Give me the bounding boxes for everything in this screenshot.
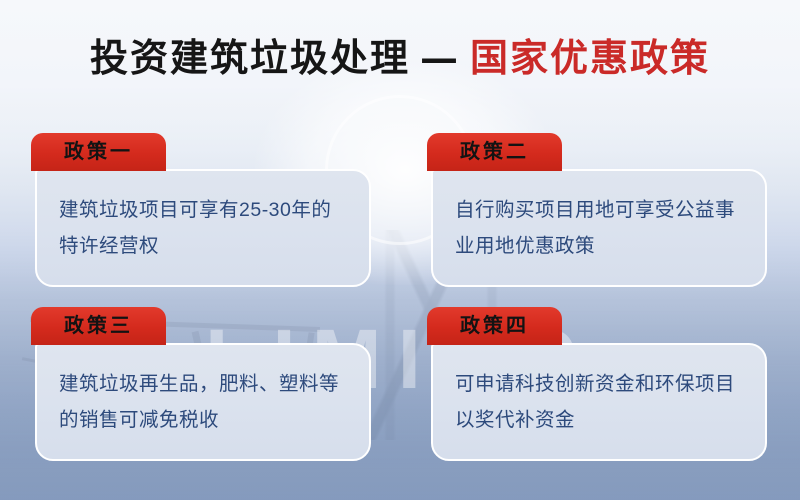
policy-badge-label: 政策四: [460, 315, 529, 335]
policy-card-body-1: 建筑垃圾项目可享有25-30年的特许经营权: [35, 169, 371, 287]
policy-card-text: 建筑垃圾项目可享有25-30年的特许经营权: [59, 192, 347, 264]
policy-card-body-4: 可申请科技创新资金和环保项目以奖代补资金: [431, 343, 767, 461]
policy-badge-label: 政策二: [460, 141, 529, 161]
policy-badge-3: 政策三: [31, 307, 166, 345]
policy-badge-label: 政策一: [64, 141, 133, 161]
policy-badge-2: 政策二: [427, 133, 562, 171]
policy-card-body-2: 自行购买项目用地可享受公益事业用地优惠政策: [431, 169, 767, 287]
policy-card-1[interactable]: 政策一 建筑垃圾项目可享有25-30年的特许经营权: [35, 133, 371, 287]
policy-badge-1: 政策一: [31, 133, 166, 171]
page-title: 投资建筑垃圾处理—国家优惠政策: [0, 34, 800, 82]
page-title-dash: —: [410, 35, 470, 80]
policy-card-text: 自行购买项目用地可享受公益事业用地优惠政策: [455, 192, 743, 264]
policy-card-4[interactable]: 政策四 可申请科技创新资金和环保项目以奖代补资金: [431, 307, 767, 461]
policy-badge-label: 政策三: [64, 315, 133, 335]
policy-card-text: 建筑垃圾再生品，肥料、塑料等的销售可减免税收: [59, 366, 347, 438]
policy-badge-4: 政策四: [427, 307, 562, 345]
page-title-red: 国家优惠政策: [470, 35, 710, 80]
policy-card-3[interactable]: 政策三 建筑垃圾再生品，肥料、塑料等的销售可减免税收: [35, 307, 371, 461]
poster-canvas: LIMING 投资建筑垃圾处理—国家优惠政策 政策一 建筑垃圾项目可享有25-3…: [0, 0, 800, 500]
policy-card-2[interactable]: 政策二 自行购买项目用地可享受公益事业用地优惠政策: [431, 133, 767, 287]
page-title-dark: 投资建筑垃圾处理: [90, 35, 410, 80]
policy-card-body-3: 建筑垃圾再生品，肥料、塑料等的销售可减免税收: [35, 343, 371, 461]
policy-card-text: 可申请科技创新资金和环保项目以奖代补资金: [455, 366, 743, 438]
